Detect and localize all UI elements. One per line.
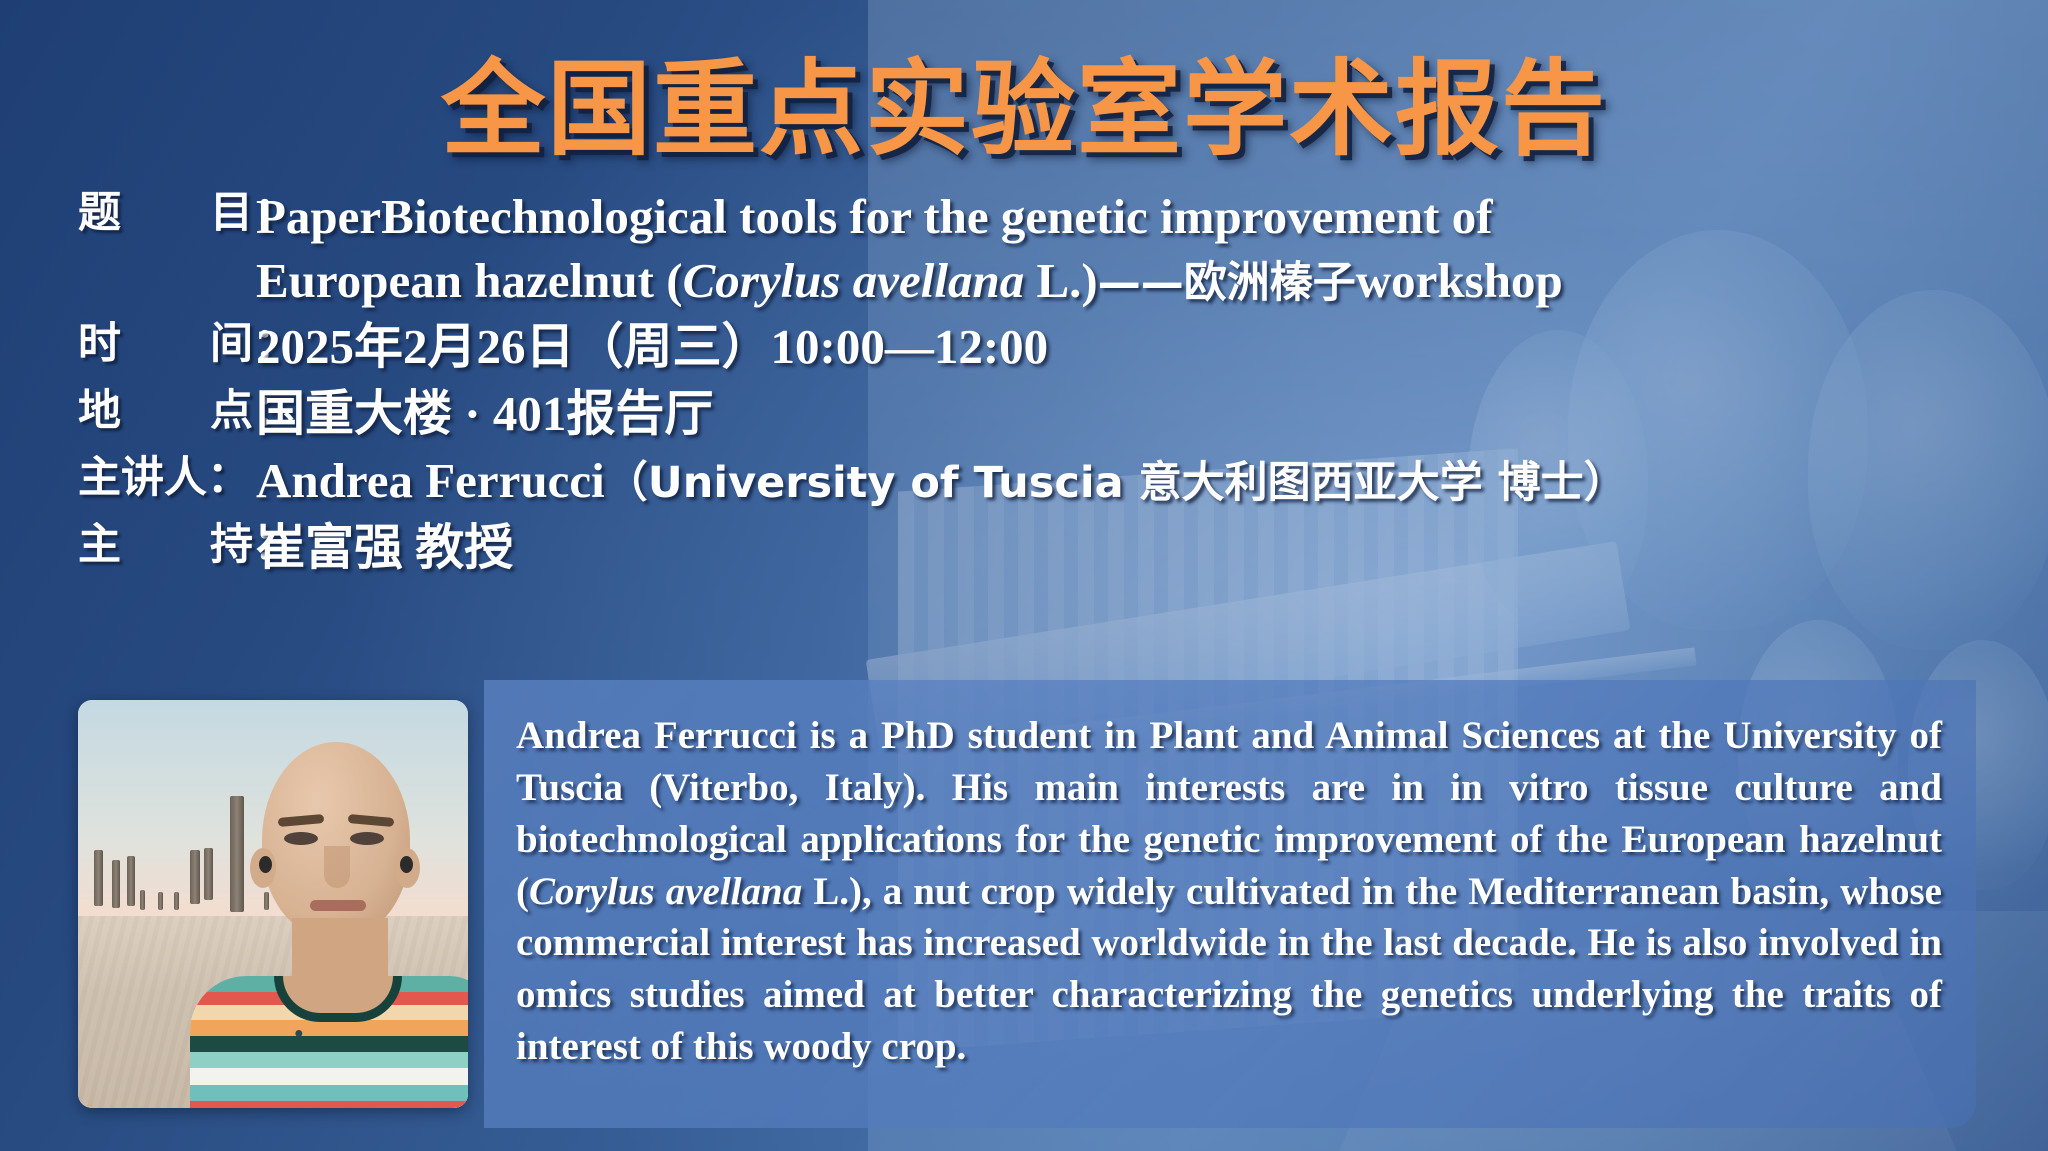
photo-post (264, 892, 269, 910)
topic-line1: PaperBiotechnological tools for the gene… (256, 189, 1493, 244)
info-value-speaker: Andrea Ferrucci（University of Tuscia 意大利… (256, 450, 1978, 513)
speaker-bio-text: Andrea Ferrucci is a PhD student in Plan… (516, 710, 1942, 1073)
photo-post (230, 796, 244, 912)
info-value-location: 国重大楼 · 401报告厅 (256, 383, 1978, 446)
speaker-affil-cn: 意大利图西亚大学 博士） (1139, 458, 1627, 508)
speaker-affil-open: （University of Tuscia (605, 458, 1139, 508)
photo-logo-icon: ● (294, 1025, 312, 1043)
info-value-host: 崔富强 教授 (256, 517, 1978, 580)
photo-eye (284, 832, 318, 845)
bio-species-italic: Corylus avellana (529, 870, 802, 913)
photo-post (127, 856, 135, 906)
photo-post (190, 850, 200, 904)
photo-post (140, 890, 145, 910)
info-value-time: 2025年2月26日（周三）10:00—12:00 (256, 316, 1978, 379)
photo-mouth (310, 900, 366, 911)
photo-post (94, 850, 103, 906)
info-value-topic: PaperBiotechnological tools for the gene… (256, 185, 1978, 312)
info-row-time: 时 间： 2025年2月26日（周三）10:00—12:00 (78, 316, 1978, 379)
info-label-time: 时 间： (78, 316, 256, 373)
photo-earbud (259, 856, 272, 873)
topic-line2-mid: L.) (1024, 253, 1098, 308)
speaker-name: Andrea Ferrucci (256, 453, 605, 508)
photo-post (112, 860, 120, 908)
topic-line2-cn: ——欧洲榛子 (1098, 258, 1356, 308)
info-label-location: 地 点： (78, 383, 256, 440)
photo-eye (350, 832, 384, 845)
topic-species-italic: Corylus avellana (683, 253, 1025, 308)
photo-nose (324, 846, 350, 888)
info-label-topic: 题 目： (78, 185, 256, 242)
info-row-topic: 题 目： PaperBiotechnological tools for the… (78, 185, 1978, 312)
info-row-location: 地 点： 国重大楼 · 401报告厅 (78, 383, 1978, 446)
speaker-bio-panel: Andrea Ferrucci is a PhD student in Plan… (484, 680, 1976, 1128)
seminar-poster: 全国重点实验室学术报告 题 目： PaperBiotechnological t… (0, 0, 2048, 1151)
info-row-host: 主 持： 崔富强 教授 (78, 517, 1978, 580)
photo-post (158, 892, 163, 910)
photo-post (174, 892, 179, 910)
topic-line2-pre: European hazelnut ( (256, 253, 683, 308)
info-label-host: 主 持： (78, 517, 256, 574)
info-row-speaker: 主讲人： Andrea Ferrucci（University of Tusci… (78, 450, 1978, 513)
poster-headline: 全国重点实验室学术报告 (0, 24, 2048, 175)
info-label-speaker: 主讲人： (78, 450, 256, 507)
speaker-photo: ● (78, 700, 468, 1108)
photo-post (204, 848, 213, 900)
photo-earbud (400, 856, 413, 873)
topic-line2-post: workshop (1356, 253, 1563, 308)
info-block: 题 目： PaperBiotechnological tools for the… (78, 185, 1978, 583)
